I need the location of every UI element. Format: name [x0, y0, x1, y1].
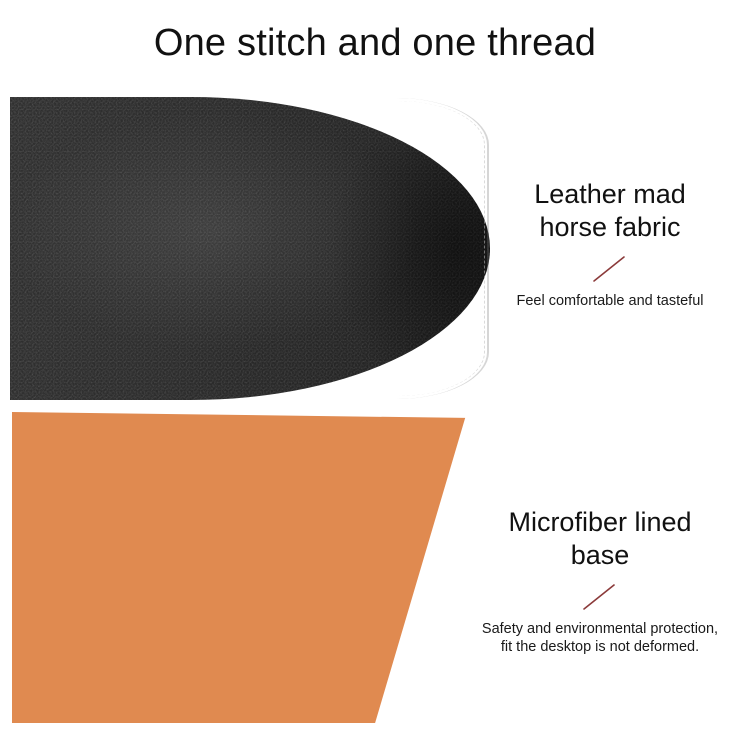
diagonal-rule-icon — [580, 582, 620, 612]
callout-microfiber: Microfiber lined base Safety and environ… — [452, 506, 748, 656]
swatch-orange-microfiber-base — [12, 412, 467, 723]
product-feature-image: One stitch and one thread Leather mad ho… — [0, 0, 750, 750]
callout-microfiber-heading: Microfiber lined base — [452, 506, 748, 572]
page-title: One stitch and one thread — [0, 22, 750, 66]
callout-leather-subtitle: Feel comfortable and tasteful — [472, 292, 748, 310]
callout-microfiber-subtitle: Safety and environmental protection, fit… — [452, 620, 748, 656]
callout-leather: Leather mad horse fabric Feel comfortabl… — [472, 178, 748, 310]
diagonal-rule-icon — [590, 254, 630, 284]
swatch-black-mad-horse-leather — [10, 97, 490, 400]
callout-leather-heading: Leather mad horse fabric — [472, 178, 748, 244]
